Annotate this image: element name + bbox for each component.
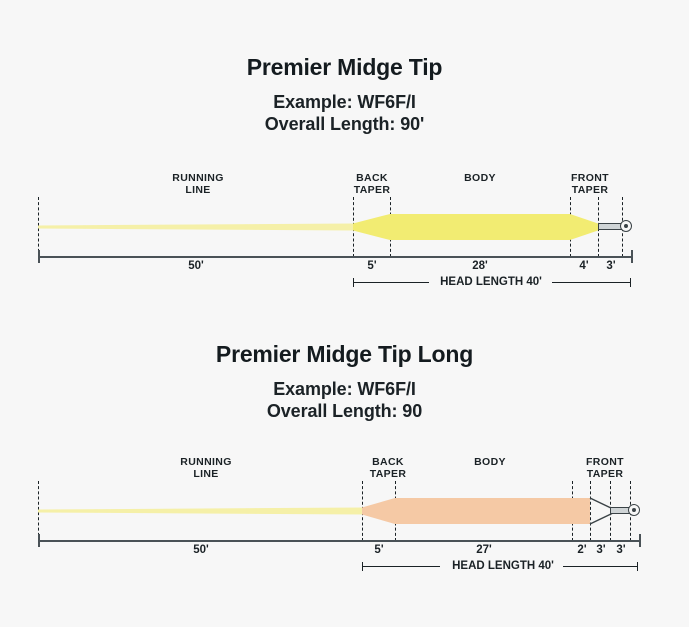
measure-body-2: 27' xyxy=(434,544,534,556)
taper-plot-2: RUNNING LINE BACK TAPER BODY FRONT TAPER xyxy=(0,448,689,573)
head-length-cap-right-2 xyxy=(637,562,638,571)
head-length-row-1: HEAD LENGTH 40' xyxy=(0,276,689,290)
measure-back-taper-2: 5' xyxy=(354,544,404,556)
head-length-line-left-2 xyxy=(362,566,440,567)
head-length-line-right-1 xyxy=(552,282,630,283)
taper-plot-1: RUNNING LINE BACK TAPER BODY FRONT TAPER xyxy=(0,164,689,289)
diagram-premier-midge-tip: Premier Midge Tip Example: WF6F/I Overal… xyxy=(0,0,689,313)
head-length-line-right-2 xyxy=(563,566,638,567)
measure-body-1: 28' xyxy=(430,260,530,272)
measure-tip-2: 3' xyxy=(596,544,646,556)
example-label-2: Example: WF6F/I xyxy=(0,379,689,401)
head-length-row-2: HEAD LENGTH 40' xyxy=(0,560,689,574)
axis-tick-start-2 xyxy=(38,534,40,547)
diagram-premier-midge-tip-long: Premier Midge Tip Long Example: WF6F/I O… xyxy=(0,313,689,627)
page-title-1: Premier Midge Tip xyxy=(0,56,689,79)
diagram-1-titles: Premier Midge Tip Example: WF6F/I Overal… xyxy=(0,0,689,136)
diagram-2-titles: Premier Midge Tip Long Example: WF6F/I O… xyxy=(0,313,689,423)
measure-running-line-1: 50' xyxy=(150,260,242,272)
overall-length-label-1: Overall Length: 90' xyxy=(0,114,689,136)
measure-running-line-2: 50' xyxy=(155,544,247,556)
measure-axis-2 xyxy=(38,540,640,542)
axis-tick-start-1 xyxy=(38,250,40,263)
head-length-cap-right-1 xyxy=(630,278,631,287)
measure-back-taper-1: 5' xyxy=(346,260,398,272)
head-length-label-2: HEAD LENGTH 40' xyxy=(430,560,576,573)
measure-tip-1: 3' xyxy=(585,260,637,272)
overall-length-label-2: Overall Length: 90 xyxy=(0,401,689,423)
page-title-2: Premier Midge Tip Long xyxy=(0,343,689,366)
example-label-1: Example: WF6F/I xyxy=(0,92,689,114)
head-length-label-1: HEAD LENGTH 40' xyxy=(418,276,564,289)
measure-axis-1 xyxy=(38,256,632,258)
